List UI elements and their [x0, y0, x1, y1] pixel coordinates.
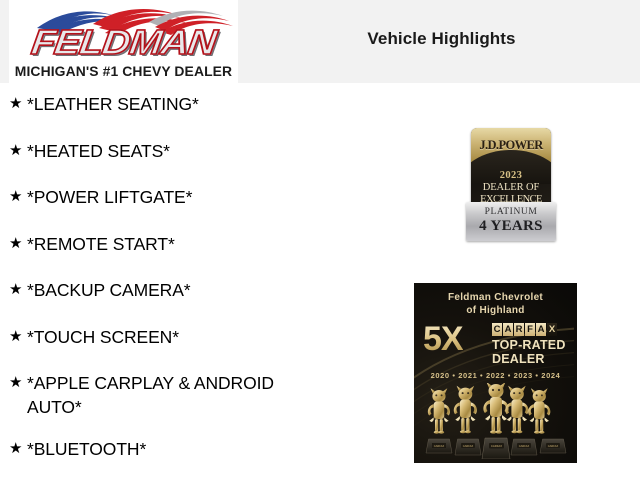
vehicle-highlights-list: ★ *LEATHER SEATING* ★ *HEATED SEATS* ★ *… — [0, 92, 400, 484]
star-bullet-icon: ★ — [9, 92, 27, 116]
dealer-logo-tagline: MICHIGAN'S #1 CHEVY DEALER — [9, 64, 238, 79]
dealer-logo-wordmark: FELDMAN — [9, 26, 238, 60]
star-bullet-icon: ★ — [9, 185, 27, 209]
list-item: ★ *APPLE CARPLAY & ANDROID AUTO* — [0, 371, 400, 437]
list-item-label: *APPLE CARPLAY & ANDROID AUTO* — [27, 371, 400, 419]
star-bullet-icon: ★ — [9, 232, 27, 256]
carfax-logo-letter: A — [503, 323, 513, 336]
list-item: ★ *TOUCH SCREEN* — [0, 325, 400, 372]
list-item-label: *TOUCH SCREEN* — [27, 325, 400, 349]
carfax-logo-letter: R — [514, 323, 524, 336]
jd-power-tier-label: PLATINUM — [466, 207, 556, 217]
list-item-label: *HEATED SEATS* — [27, 139, 400, 163]
carfax-dealer-name-line1: Feldman Chevrolet — [414, 291, 577, 304]
list-item-label: *BLUETOOTH* — [27, 437, 400, 461]
list-item: ★ *BACKUP CAMERA* — [0, 278, 400, 325]
list-item: ★ *POWER LIFTGATE* — [0, 185, 400, 232]
list-item: ★ *REMOTE START* — [0, 232, 400, 279]
jd-power-duration-label: 4 YEARS — [466, 218, 556, 235]
svg-text:CARFAX: CARFAX — [434, 444, 445, 448]
list-item-label: *LEATHER SEATING* — [27, 92, 400, 116]
list-item-label: *BACKUP CAMERA* — [27, 278, 400, 302]
carfax-logo-letter: X — [547, 323, 557, 336]
star-bullet-icon: ★ — [9, 278, 27, 302]
carfax-logo-letter: C — [492, 323, 502, 336]
svg-text:CARFAX: CARFAX — [548, 444, 559, 448]
jd-power-award-line1: DEALER OF — [471, 182, 551, 193]
list-item-label: *POWER LIFTGATE* — [27, 185, 400, 209]
star-bullet-icon: ★ — [9, 437, 27, 461]
carfax-logo-letter: A — [536, 323, 546, 336]
star-bullet-icon: ★ — [9, 371, 27, 395]
carfax-logo-letter: F — [525, 323, 535, 336]
svg-text:CARFAX: CARFAX — [463, 444, 474, 448]
star-bullet-icon: ★ — [9, 139, 27, 163]
jd-power-year-label: 2023 — [471, 170, 551, 181]
carfax-dealer-name-line2: of Highland — [414, 304, 577, 317]
jd-power-silver-banner: PLATINUM 4 YEARS — [466, 202, 556, 241]
list-item: ★ *LEATHER SEATING* — [0, 92, 400, 139]
svg-text:CARFAX: CARFAX — [491, 444, 502, 448]
dealer-logo-graphic: FELDMAN MICHIGAN'S #1 CHEVY DEALER — [9, 2, 238, 82]
page-title: Vehicle Highlights — [243, 29, 640, 49]
carfax-multiplier-label: 5X — [423, 322, 463, 356]
carfax-logo: C A R F A X — [492, 323, 557, 336]
svg-text:CARFAX: CARFAX — [519, 444, 530, 448]
carfax-dealer-name: Feldman Chevrolet of Highland — [414, 291, 577, 317]
carfax-headline-line1: TOP-RATED — [492, 338, 566, 352]
carfax-headline-line2: DEALER — [492, 352, 545, 366]
dealer-logo[interactable]: FELDMAN MICHIGAN'S #1 CHEVY DEALER — [9, 0, 238, 83]
list-item: ★ *BLUETOOTH* — [0, 437, 400, 484]
carfax-trophies-icon: CARFAX CARFAX CARFAX CARFAX CARFAX — [424, 383, 567, 459]
list-item: ★ *HEATED SEATS* — [0, 139, 400, 186]
jd-power-brand-label: J.D.POWER — [471, 138, 551, 153]
carfax-years-label: 2020 • 2021 • 2022 • 2023 • 2024 — [414, 371, 577, 380]
star-bullet-icon: ★ — [9, 325, 27, 349]
list-item-label: *REMOTE START* — [27, 232, 400, 256]
carfax-award-badge: Feldman Chevrolet of Highland 5X C A R F… — [414, 283, 577, 463]
jd-power-award-badge: J.D.POWER 2023 DEALER OF EXCELLENCE PLAT… — [466, 128, 556, 241]
